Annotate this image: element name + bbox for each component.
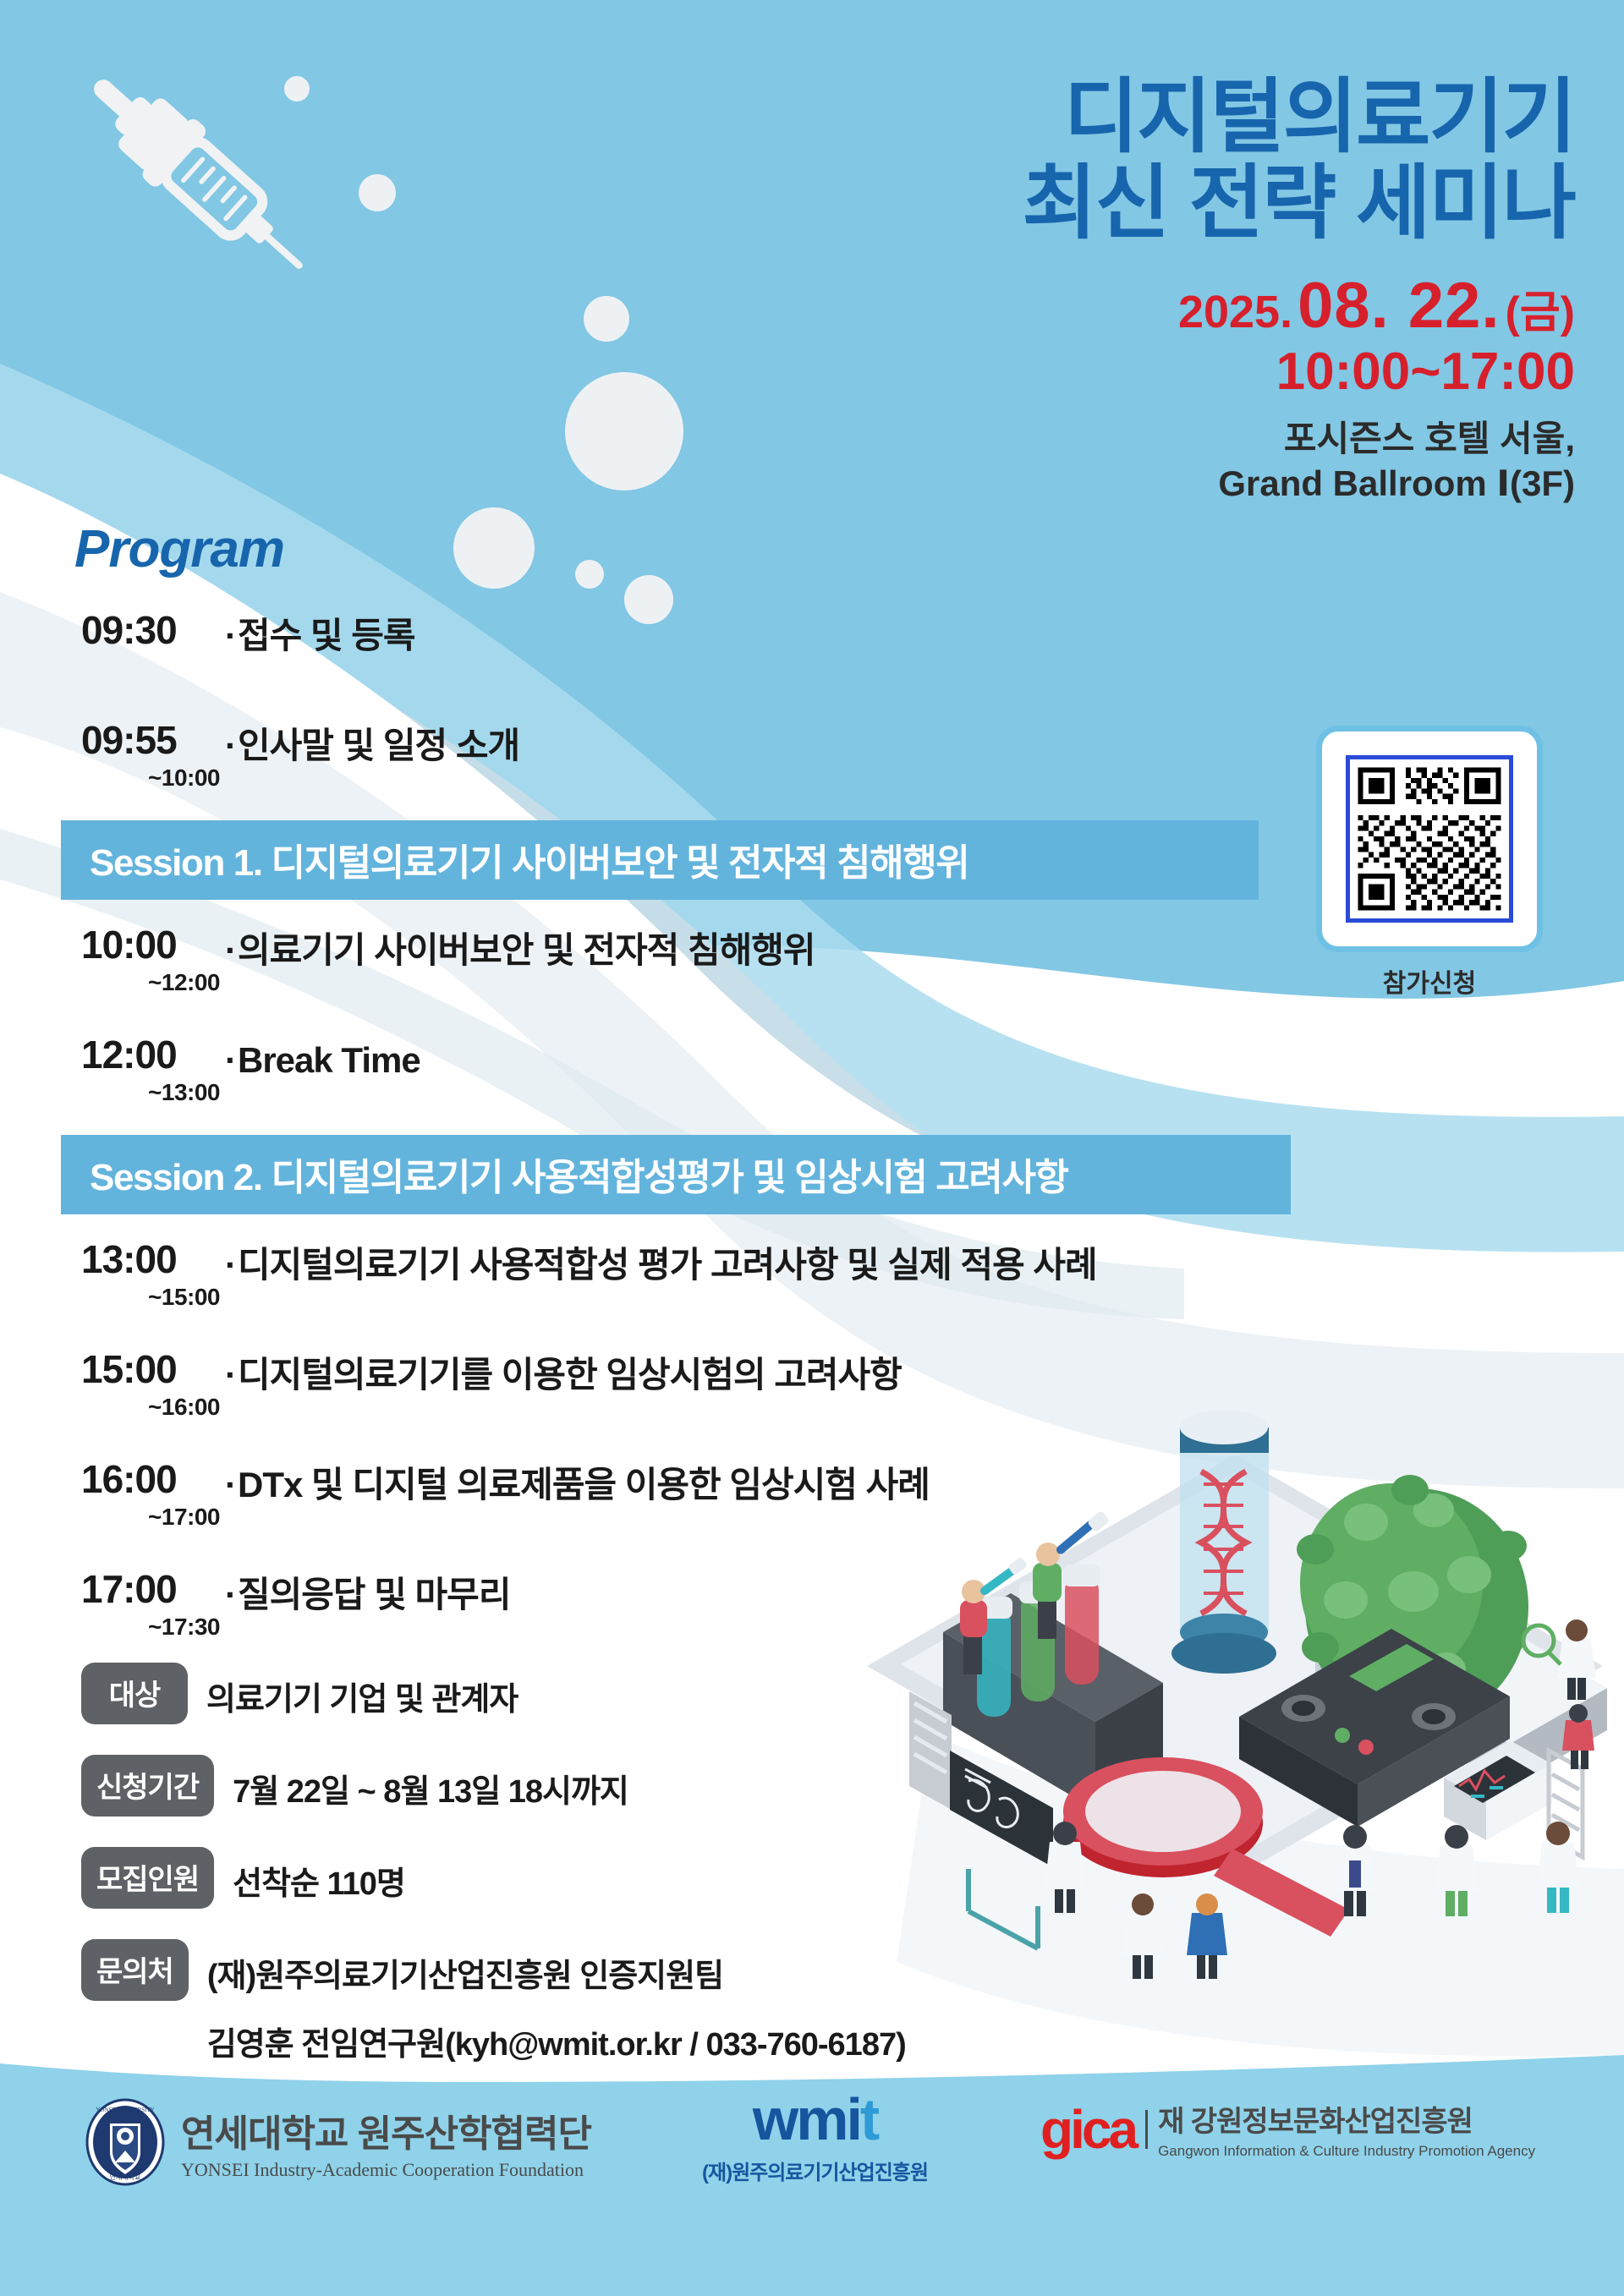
bullet-dot: · <box>225 616 236 655</box>
qr-code-image[interactable] <box>1346 755 1513 923</box>
schedule-desc-text: 의료기기 사이버보안 및 전자적 침해행위 <box>238 930 815 970</box>
gica-name-kr-text: 강원정보문화산업진흥원 <box>1191 2106 1473 2138</box>
schedule-desc-text: 인사말 및 일정 소개 <box>238 726 519 765</box>
bullet-dot: · <box>225 1355 236 1395</box>
contact-values: (재)원주의료기기산업진흥원 인증지원팀 김영훈 전임연구원(kyh@wmit.… <box>189 1939 906 2064</box>
event-month-day: 08. 22. <box>1298 269 1500 342</box>
contact-org: (재)원주의료기기산업진흥원 인증지원팀 <box>207 1939 906 1996</box>
wmit-wordmark: wmit <box>702 2090 928 2149</box>
bullet-dot: · <box>225 1575 236 1614</box>
schedule-desc: ·디지털의료기기 사용적합성 평가 고려사항 및 실제 적용 사례 <box>225 1236 1097 1285</box>
time-main: 09:30 <box>81 611 225 649</box>
schedule-desc-text: DTx 및 디지털 의료제품을 이용한 임상시험 사례 <box>238 1465 930 1504</box>
session-header-2: Session 2. 디지털의료기기 사용적합성평가 및 임상시험 고려사항 <box>61 1135 1291 1214</box>
syringe-icon <box>51 51 338 304</box>
footer-band: YONSEI UNIVERSITY 연세대학교 연세대학교 원주산학협력단 YO… <box>0 2051 1624 2296</box>
bubble-decor <box>565 372 683 490</box>
schedule-time: 12:00 ~13:00 <box>81 1032 225 1104</box>
schedule-desc: ·의료기기 사이버보안 및 전자적 침해행위 <box>225 922 815 971</box>
wmit-wm: wmi <box>753 2086 860 2152</box>
badge-period: 신청기간 <box>81 1755 214 1817</box>
schedule-desc: ·DTx 및 디지털 의료제품을 이용한 임상시험 사례 <box>225 1456 930 1505</box>
venue-block: 포시즌스 호텔 서울, Grand Ballroom Ⅰ(3F) <box>1022 416 1575 507</box>
info-row-target: 대상 의료기기 기업 및 관계자 <box>81 1663 1181 1724</box>
time-main: 09:55 <box>81 721 225 759</box>
time-main: 12:00 <box>81 1035 225 1074</box>
schedule-time: 09:55 ~10:00 <box>81 717 225 790</box>
time-sub: ~12:00 <box>81 971 225 995</box>
schedule-desc: ·디지털의료기기를 이용한 임상시험의 고려사항 <box>225 1346 902 1395</box>
schedule-desc-text: Break Time <box>238 1040 420 1080</box>
bullet-dot: · <box>225 726 236 765</box>
time-sub: ~17:00 <box>81 1505 225 1529</box>
time-sub: ~10:00 <box>81 766 225 790</box>
venue-line-1: 포시즌스 호텔 서울, <box>1022 416 1575 462</box>
svg-text:YONSEI UNIVERSITY: YONSEI UNIVERSITY <box>96 2107 154 2113</box>
event-day-of-week: (금) <box>1506 277 1575 340</box>
schedule-row: 12:00 ~13:00 ·Break Time <box>0 1032 1319 1113</box>
title-line-2: 최신 전략 세미나 <box>1022 161 1575 247</box>
wmit-t: t <box>860 2086 877 2152</box>
schedule-time: 17:00 ~17:30 <box>81 1566 225 1639</box>
bullet-dot: · <box>225 930 236 970</box>
gica-bracket: 재 <box>1158 2106 1183 2138</box>
schedule-row: 09:55 ~10:00 ·인사말 및 일정 소개 <box>0 717 1319 798</box>
yonsei-text: 연세대학교 원주산학협력단 YONSEI Industry-Academic C… <box>181 2103 591 2181</box>
schedule-desc-text: 디지털의료기기를 이용한 임상시험의 고려사항 <box>238 1355 902 1395</box>
schedule-row: 13:00 ~15:00 ·디지털의료기기 사용적합성 평가 고려사항 및 실제… <box>0 1236 1319 1318</box>
time-main: 10:00 <box>81 925 225 964</box>
program-heading: Program <box>74 519 284 579</box>
schedule-row: 10:00 ~12:00 ·의료기기 사이버보안 및 전자적 침해행위 <box>0 922 1319 1003</box>
time-main: 16:00 <box>81 1460 225 1499</box>
schedule-desc: ·인사말 및 일정 소개 <box>225 717 519 766</box>
schedule-desc: ·접수 및 등록 <box>225 607 415 656</box>
footer-logos: YONSEI UNIVERSITY 연세대학교 연세대학교 원주산학협력단 YO… <box>0 2051 1624 2296</box>
time-sub: ~16:00 <box>81 1395 225 1419</box>
bubble-decor <box>359 174 396 211</box>
schedule-desc-text: 질의응답 및 마무리 <box>238 1575 510 1614</box>
yonsei-name-kr: 연세대학교 원주산학협력단 <box>181 2103 591 2157</box>
badge-capacity: 모집인원 <box>81 1847 214 1909</box>
time-sub: ~17:30 <box>81 1615 225 1639</box>
gica-text: 재 강원정보문화산업진흥원 Gangwon Information & Cult… <box>1158 2098 1535 2160</box>
info-block: 대상 의료기기 기업 및 관계자 신청기간 7월 22일 ~ 8월 13일 18… <box>81 1663 1181 2095</box>
title-line-1: 디지털의료기기 <box>1022 74 1575 161</box>
qr-registration[interactable]: 참가신청 <box>1316 726 1543 1000</box>
badge-contact: 문의처 <box>81 1939 189 2001</box>
info-row-contact: 문의처 (재)원주의료기기산업진흥원 인증지원팀 김영훈 전임연구원(kyh@w… <box>81 1939 1181 2064</box>
bubble-decor <box>453 507 535 589</box>
time-main: 17:00 <box>81 1570 225 1608</box>
event-date: 2025. 08. 22. (금) <box>1022 269 1575 342</box>
bubble-decor <box>584 296 629 342</box>
bullet-dot: · <box>225 1245 236 1285</box>
time-main: 15:00 <box>81 1350 225 1389</box>
bubble-decor <box>575 560 604 589</box>
qr-label: 참가신청 <box>1316 962 1543 1000</box>
badge-target: 대상 <box>81 1663 188 1724</box>
gica-divider <box>1145 2110 1148 2149</box>
logo-gica: gica 재 강원정보문화산업진흥원 Gangwon Information &… <box>1040 2098 1535 2160</box>
gica-wordmark: gica <box>1040 2102 1135 2156</box>
poster-root: 디지털의료기기 최신 전략 세미나 2025. 08. 22. (금) 10:0… <box>0 0 1624 2296</box>
value-capacity: 선착순 110명 <box>214 1847 405 1904</box>
info-row-capacity: 모집인원 선착순 110명 <box>81 1847 1181 1909</box>
schedule-time: 13:00 ~15:00 <box>81 1236 225 1309</box>
qr-matrix <box>1352 762 1506 916</box>
bullet-dot: · <box>225 1040 236 1080</box>
logo-yonsei: YONSEI UNIVERSITY 연세대학교 연세대학교 원주산학협력단 YO… <box>85 2098 591 2186</box>
value-target: 의료기기 기업 및 관계자 <box>188 1663 518 1719</box>
logo-wmit: wmit (재)원주의료기기산업진흥원 <box>702 2090 928 2185</box>
venue-line-2: Grand Ballroom Ⅰ(3F) <box>1022 461 1575 507</box>
time-sub: ~13:00 <box>81 1081 225 1104</box>
time-sub: ~15:00 <box>81 1285 225 1309</box>
schedule-desc: ·질의응답 및 마무리 <box>225 1566 510 1615</box>
value-period: 7월 22일 ~ 8월 13일 18시까지 <box>214 1755 628 1811</box>
gica-name-en: Gangwon Information & Culture Industry P… <box>1158 2143 1535 2160</box>
schedule-time: 10:00 ~12:00 <box>81 922 225 995</box>
schedule-time: 09:30 <box>81 607 225 656</box>
time-main: 13:00 <box>81 1240 225 1279</box>
qr-card[interactable] <box>1316 726 1543 952</box>
schedule-row: 09:30 ·접수 및 등록 <box>0 607 1319 688</box>
schedule-time: 15:00 ~16:00 <box>81 1346 225 1419</box>
schedule-time: 16:00 ~17:00 <box>81 1456 225 1529</box>
title-block: 디지털의료기기 최신 전략 세미나 2025. 08. 22. (금) 10:0… <box>1022 74 1575 507</box>
yonsei-name-en: YONSEI Industry-Academic Cooperation Fou… <box>181 2159 591 2181</box>
svg-text:연세대학교: 연세대학교 <box>110 2173 141 2181</box>
schedule-desc: ·Break Time <box>225 1032 420 1081</box>
info-row-period: 신청기간 7월 22일 ~ 8월 13일 18시까지 <box>81 1755 1181 1817</box>
bullet-dot: · <box>225 1465 236 1504</box>
yonsei-crest-icon: YONSEI UNIVERSITY 연세대학교 <box>85 2098 166 2186</box>
event-time-range: 10:00~17:00 <box>1022 344 1575 399</box>
event-year: 2025. <box>1178 286 1292 338</box>
wmit-subtitle: (재)원주의료기기산업진흥원 <box>702 2156 928 2185</box>
schedule-desc-text: 접수 및 등록 <box>238 616 415 655</box>
gica-name-kr: 재 강원정보문화산업진흥원 <box>1158 2098 1535 2140</box>
schedule-desc-text: 디지털의료기기 사용적합성 평가 고려사항 및 실제 적용 사례 <box>238 1245 1097 1285</box>
session-header-1: Session 1. 디지털의료기기 사이버보안 및 전자적 침해행위 <box>61 820 1259 900</box>
